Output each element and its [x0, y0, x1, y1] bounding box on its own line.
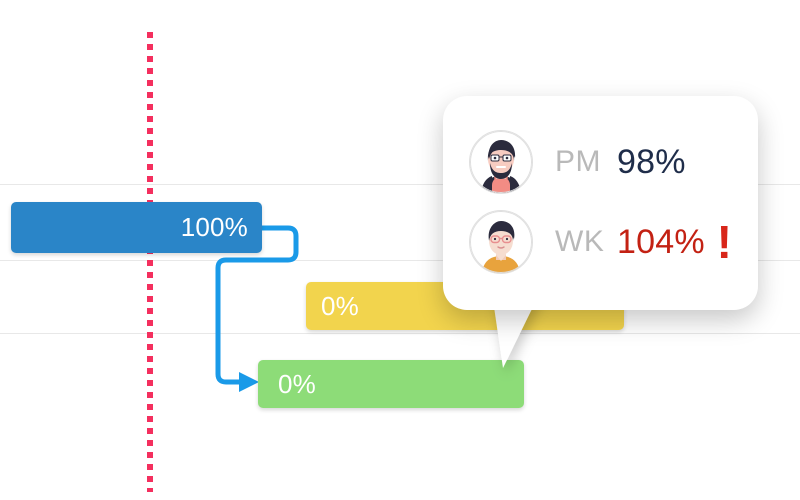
task-progress-label: 0% — [278, 369, 316, 400]
avatar-person-glasses-icon — [469, 210, 533, 274]
task-bar-blue[interactable]: 100% — [11, 202, 262, 253]
workload-row[interactable]: WK 104% ! — [469, 202, 736, 282]
task-bar-green[interactable]: 0% — [258, 360, 524, 408]
workload-percent: 98% — [617, 143, 686, 182]
today-marker-line — [147, 32, 153, 492]
task-progress-label: 0% — [321, 291, 359, 322]
overload-warning-icon: ! — [717, 219, 736, 265]
gridline — [0, 333, 800, 334]
workload-row[interactable]: PM 98% — [469, 122, 736, 202]
task-progress-label: 100% — [181, 212, 248, 243]
workload-initials: PM — [555, 145, 617, 179]
gantt-chart-canvas: 100% 0% 0% — [0, 0, 800, 500]
workload-percent: 104% — [617, 223, 705, 262]
workload-initials: WK — [555, 225, 617, 259]
workload-tooltip[interactable]: PM 98% — [443, 96, 758, 310]
avatar-bearded-man-icon — [469, 130, 533, 194]
